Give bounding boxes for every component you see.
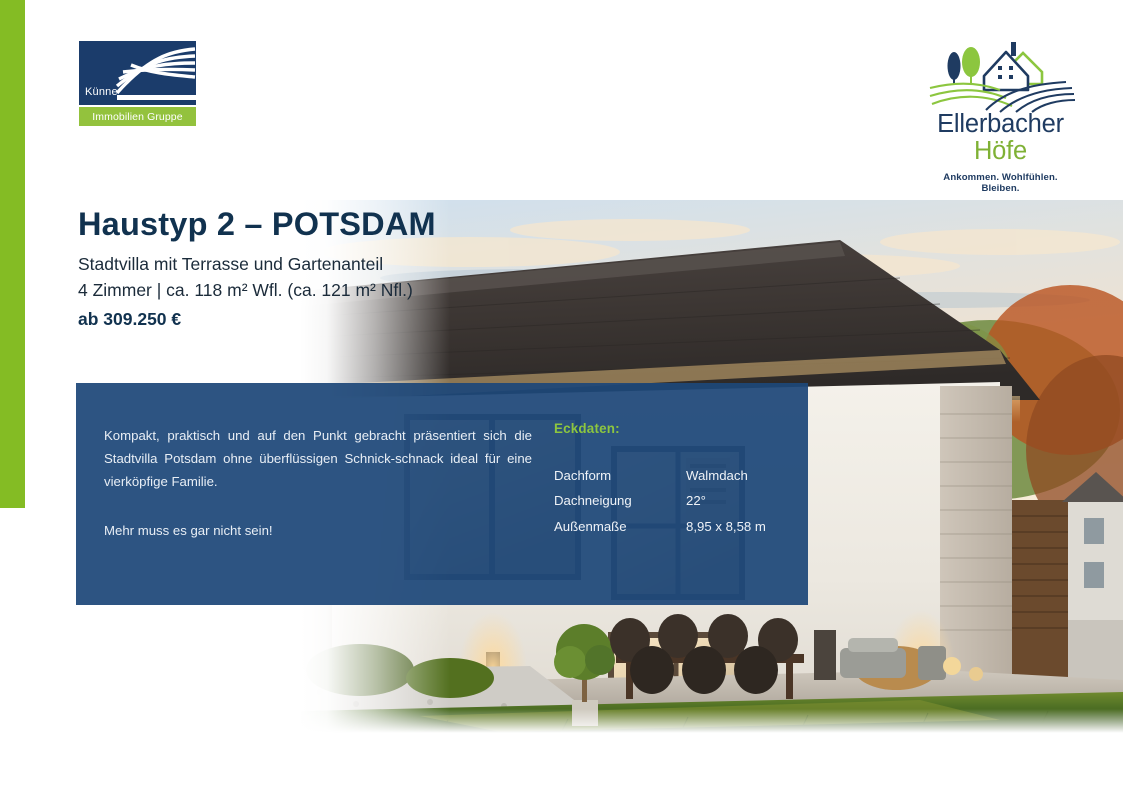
kuenne-subtitle: Immobilien Gruppe [92,111,182,123]
kuenne-wordmark: Künne [85,86,118,98]
fact-key: Dachform [554,466,686,491]
table-row: Dachform Walmdach [554,466,766,491]
fact-value: 22° [686,491,766,516]
subtitle-line-1: Stadtvilla mit Terrasse und Gartenanteil [78,252,538,278]
description-text: Kompakt, praktisch und auf den Punkt geb… [104,425,532,494]
facts-title: Eckdaten: [554,421,808,436]
description-text-secondary: Mehr muss es gar nicht sein! [104,520,532,543]
farmhouse-fields-icon [926,36,1076,114]
hoefe-wordmark: Höfe [923,138,1078,166]
kuenne-subtitle-bar: Immobilien Gruppe [79,107,196,126]
table-row: Außenmaße 8,95 x 8,58 m [554,517,766,542]
price-label: ab 309.250 € [78,307,538,333]
info-panel: Kompakt, praktisch und auf den Punkt geb… [76,383,808,605]
fact-key: Dachneigung [554,491,686,516]
subtitle-line-2: 4 Zimmer | ca. 118 m² Wfl. (ca. 121 m² N… [78,278,538,304]
left-accent-bar [0,0,25,508]
fact-value: Walmdach [686,466,766,491]
info-panel-facts-column: Eckdaten: Dachform Walmdach Dachneigung … [531,383,808,605]
kuenne-logo-box: Künne [79,41,196,105]
table-row: Dachneigung 22° [554,491,766,516]
ellerbacher-hoefe-logo: Ellerbacher Höfe Ankommen. Wohlfühlen. B… [923,36,1078,176]
facts-table: Dachform Walmdach Dachneigung 22° Außenm… [554,466,766,542]
info-panel-description-column: Kompakt, praktisch und auf den Punkt geb… [76,383,531,605]
headline-block: Haustyp 2 – POTSDAM Stadtvilla mit Terra… [78,205,538,333]
page-title: Haustyp 2 – POTSDAM [78,205,538,243]
kuenne-logo: Künne Immobilien Gruppe [79,41,196,126]
ellerbacher-wordmark: Ellerbacher [923,112,1078,138]
ellerbacher-tagline: Ankommen. Wohlfühlen. Bleiben. [923,172,1078,194]
fact-key: Außenmaße [554,517,686,542]
fact-value: 8,95 x 8,58 m [686,517,766,542]
